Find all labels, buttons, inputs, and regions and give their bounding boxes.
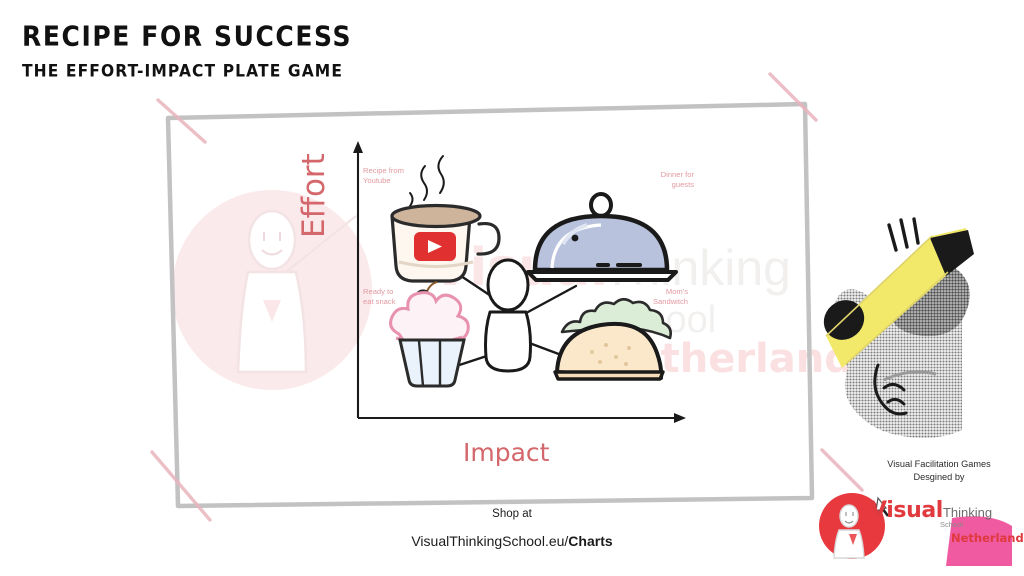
logo-wordmark: VisualThinking School Netherlands [870, 498, 992, 523]
cloche-serving-dome-icon [528, 194, 676, 280]
svg-text:Netherlands: Netherlands [600, 336, 877, 382]
cupcake-icon [391, 282, 469, 386]
taco-icon [555, 299, 671, 379]
coffee-cup-youtube-icon [392, 156, 499, 281]
annotation-bottom-left: Ready to eat snack [363, 287, 396, 308]
y-axis-label: Effort [296, 153, 332, 238]
logo-word-thinking: Thinking [943, 505, 992, 520]
x-axis-arrow [674, 413, 686, 423]
connector-lines [438, 264, 580, 372]
pencil-tip [816, 292, 873, 348]
logo-word-school: School [940, 520, 963, 529]
shop-url-plain: VisualThinkingSchool.eu/ [411, 533, 568, 549]
y-axis-arrow [353, 141, 363, 153]
logo-word-visual: Visual [870, 498, 943, 523]
shop-url-bold: Charts [568, 533, 612, 549]
title-block: RECIPE FOR SUCCESS THE EFFORT-IMPACT PLA… [22, 22, 352, 79]
svg-text:Visual: Visual [430, 238, 608, 298]
logo-word-country: Netherlands [951, 531, 1024, 545]
watermark-figure-tie [263, 300, 281, 322]
hand-shape [835, 259, 970, 438]
watermark-circle [172, 190, 372, 390]
x-axis-label: Impact [463, 438, 549, 467]
annotation-top-right: Dinner for guests [636, 170, 694, 191]
page-subtitle: THE EFFORT-IMPACT PLATE GAME [22, 62, 352, 80]
logo-caption: Visual Facilitation Games Desgined by [860, 458, 1018, 485]
page-title: RECIPE FOR SUCCESS [22, 22, 352, 51]
pencil [816, 228, 974, 368]
motion-lines [889, 219, 918, 250]
stick-figure-presenter [486, 260, 531, 371]
annotation-top-left: Recipe from Youtube [363, 166, 404, 187]
annotation-bottom-right: Mom's Sandwitch [630, 287, 688, 308]
brand-logo-block[interactable]: Visual Facilitation Games Desgined by Vi… [812, 458, 1018, 563]
thumb-outline [875, 365, 906, 414]
watermark-figure-face [262, 232, 282, 255]
poster-canvas: Visual Thinking School Netherlands RECIP… [0, 0, 1024, 576]
